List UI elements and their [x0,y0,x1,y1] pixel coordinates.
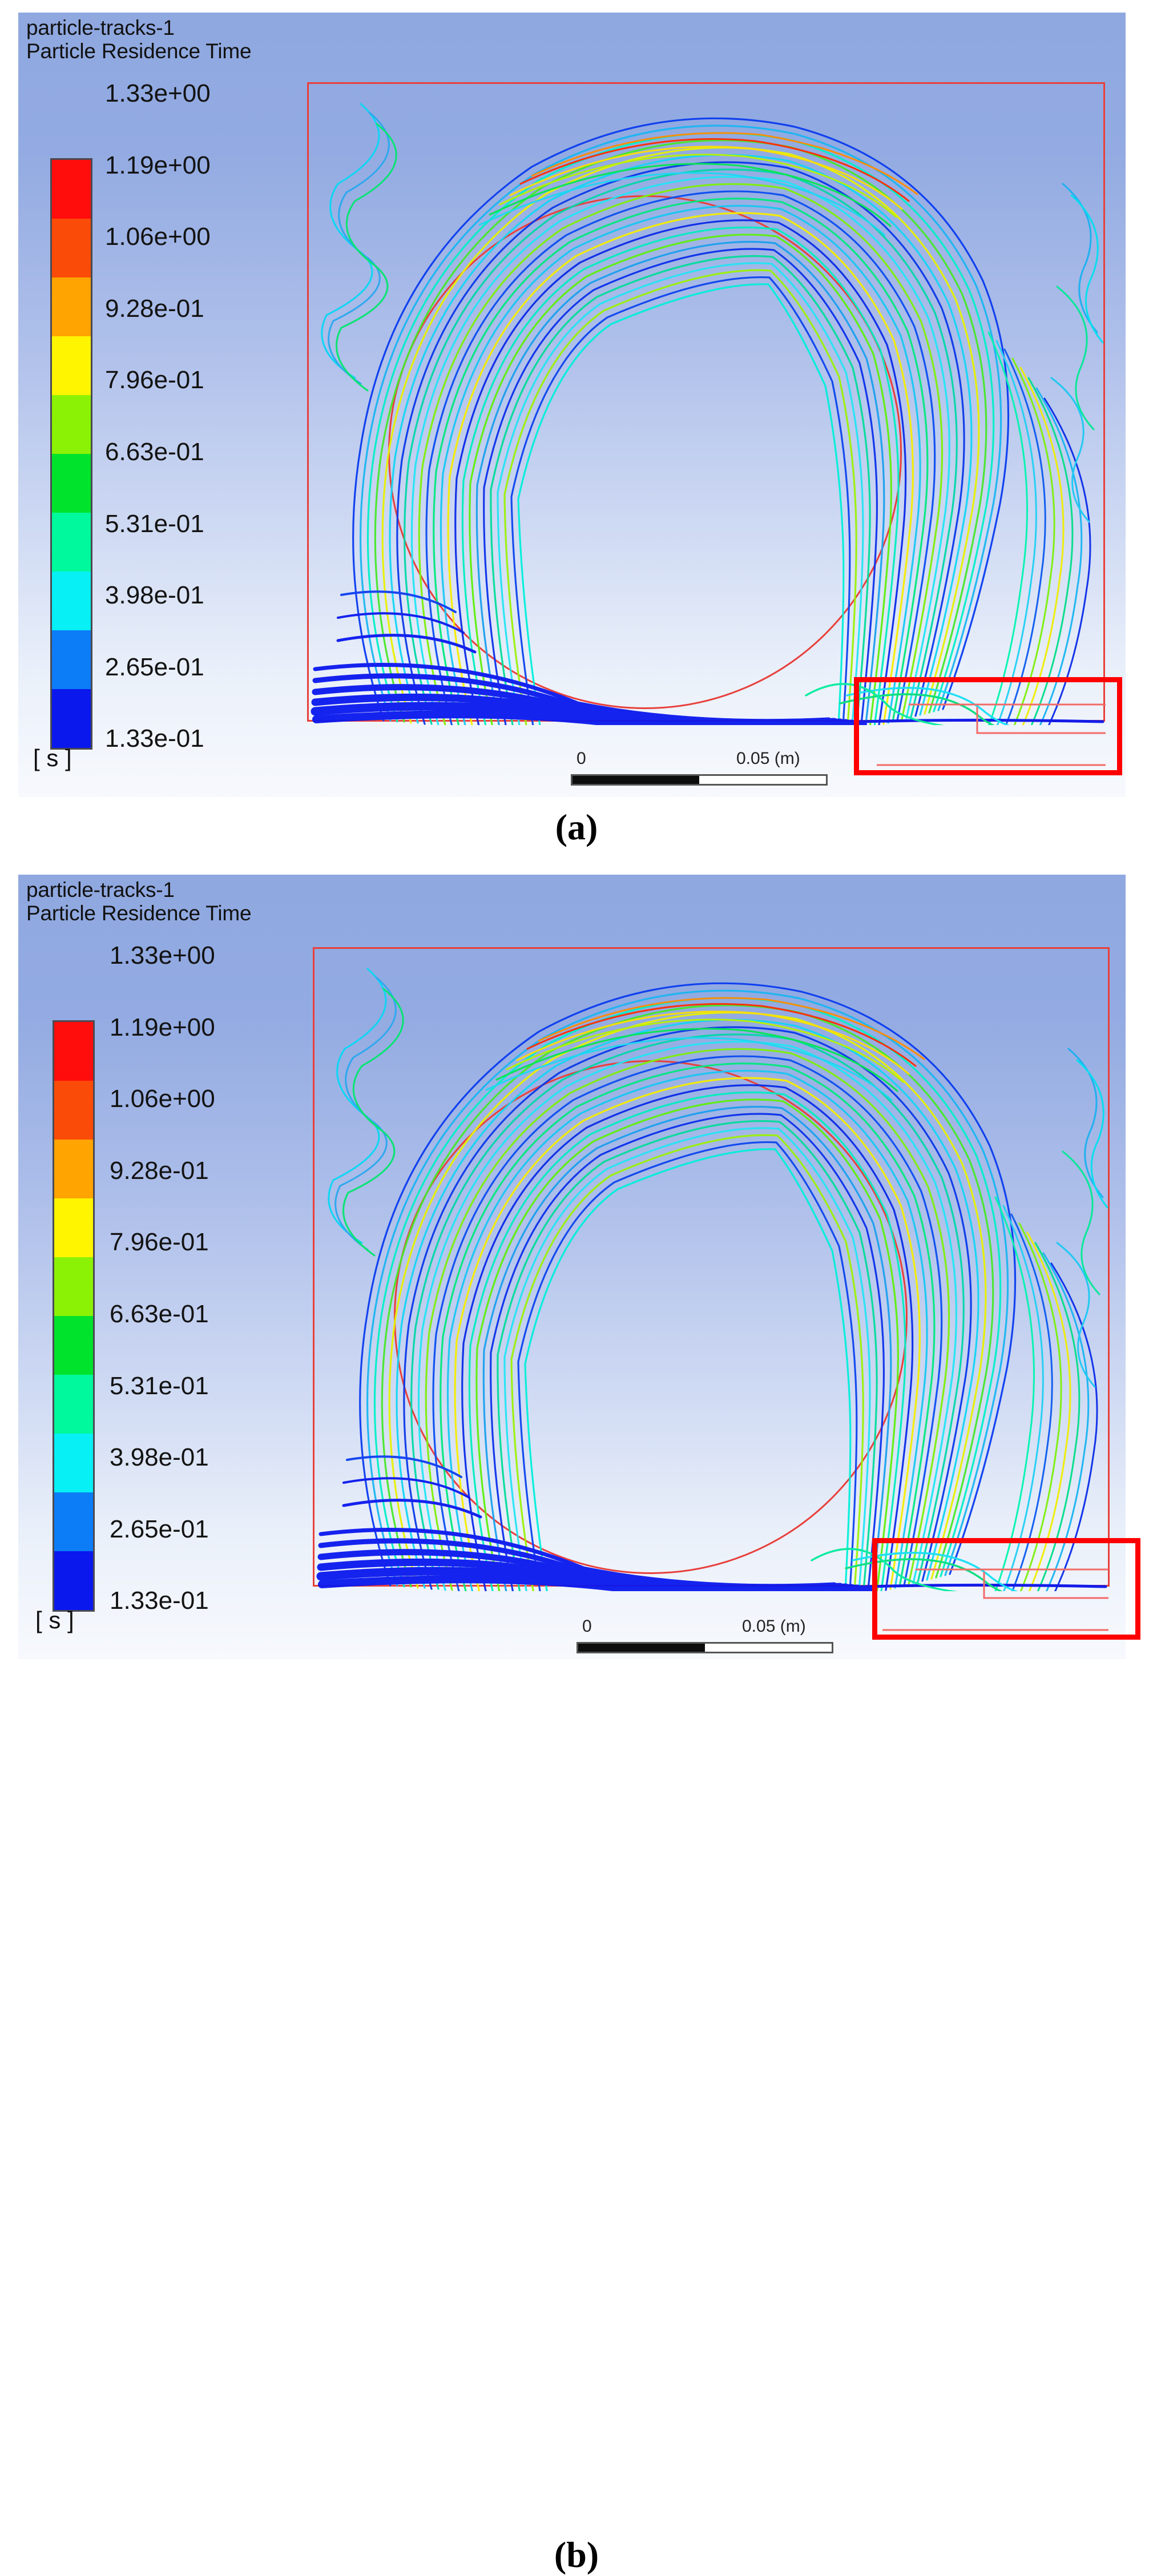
title-line-1-a: particle-tracks-1 [26,16,251,39]
legend-tick: 9.28e-01 [105,296,211,321]
legend-tick: 1.19e+00 [110,1015,215,1040]
legend-tick: 7.96e-01 [105,368,211,393]
highlight-annotation-b [872,1538,1140,1640]
legend-band [54,1198,93,1257]
cylinder-outline-a [388,195,902,709]
figure-panel-a: particle-tracks-1 Particle Residence Tim… [0,0,1153,868]
legend-band [52,454,91,513]
legend-band [54,1140,93,1198]
legend-tick: 5.31e-01 [105,512,211,537]
legend-tick: 6.63e-01 [110,1302,215,1327]
color-legend-a [50,158,92,750]
legend-band [52,395,91,454]
legend-band [54,1375,93,1434]
legend-band [52,277,91,336]
cylinder-outline-b [394,1060,908,1574]
panel-caption-a: (a) [0,806,1153,848]
legend-band [52,513,91,571]
legend-tick-labels-a: 1.33e+00 1.19e+00 1.06e+00 9.28e-01 7.96… [105,81,211,797]
viewport-title-a: particle-tracks-1 Particle Residence Tim… [26,16,251,63]
legend-band [52,336,91,395]
legend-tick: 1.33e+00 [110,943,215,968]
legend-tick: 2.65e-01 [105,655,211,680]
legend-tick: 1.06e+00 [105,224,211,249]
scale-bar-a: 0 0.05 (m) [571,749,839,786]
legend-tick: 9.28e-01 [110,1158,215,1184]
legend-band [54,1257,93,1316]
legend-units-a: [ s ] [33,744,72,772]
legend-band [52,160,91,219]
legend-tick: 7.96e-01 [110,1230,215,1255]
scale-max-label: 0.05 (m) [742,1617,806,1636]
legend-band [54,1492,93,1551]
legend-tick: 5.31e-01 [110,1374,215,1399]
title-line-2-a: Particle Residence Time [26,39,251,63]
legend-tick: 3.98e-01 [105,583,211,608]
scale-bar-b: 0 0.05 (m) [576,1617,845,1653]
legend-tick: 1.33e-01 [110,1588,215,1613]
scale-bar-fill-a [573,776,699,784]
legend-band [54,1022,93,1081]
color-legend-b [53,1020,95,1612]
legend-band [52,571,91,630]
legend-tick: 1.33e-01 [105,726,211,751]
panel-caption-b: (b) [0,2534,1153,2576]
scale-bar-fill-b [578,1644,705,1652]
viewport-title-b: particle-tracks-1 Particle Residence Tim… [26,878,251,925]
title-line-1-b: particle-tracks-1 [26,878,251,901]
title-line-2-b: Particle Residence Time [26,901,251,925]
scale-bar-track-b [576,1642,833,1653]
scale-min-label: 0 [576,749,586,768]
legend-band [54,1551,93,1610]
legend-band [52,689,91,748]
scale-bar-track-a [571,774,828,786]
legend-tick: 1.33e+00 [105,81,211,106]
legend-tick: 3.98e-01 [110,1445,215,1470]
legend-band [54,1434,93,1492]
scale-bar-labels-b: 0 0.05 (m) [576,1617,845,1640]
legend-band [54,1316,93,1375]
legend-tick: 1.06e+00 [110,1086,215,1112]
legend-band [52,219,91,277]
scale-max-label: 0.05 (m) [736,749,800,768]
legend-units-b: [ s ] [35,1607,74,1634]
scale-bar-labels-a: 0 0.05 (m) [571,749,839,772]
legend-band [52,630,91,689]
legend-tick: 1.19e+00 [105,153,211,178]
legend-tick: 2.65e-01 [110,1517,215,1542]
legend-tick-labels-b: 1.33e+00 1.19e+00 1.06e+00 9.28e-01 7.96… [110,943,215,1659]
legend-tick: 6.63e-01 [105,440,211,465]
highlight-annotation-a [854,677,1122,775]
legend-band [54,1081,93,1140]
scale-min-label: 0 [582,1617,592,1636]
